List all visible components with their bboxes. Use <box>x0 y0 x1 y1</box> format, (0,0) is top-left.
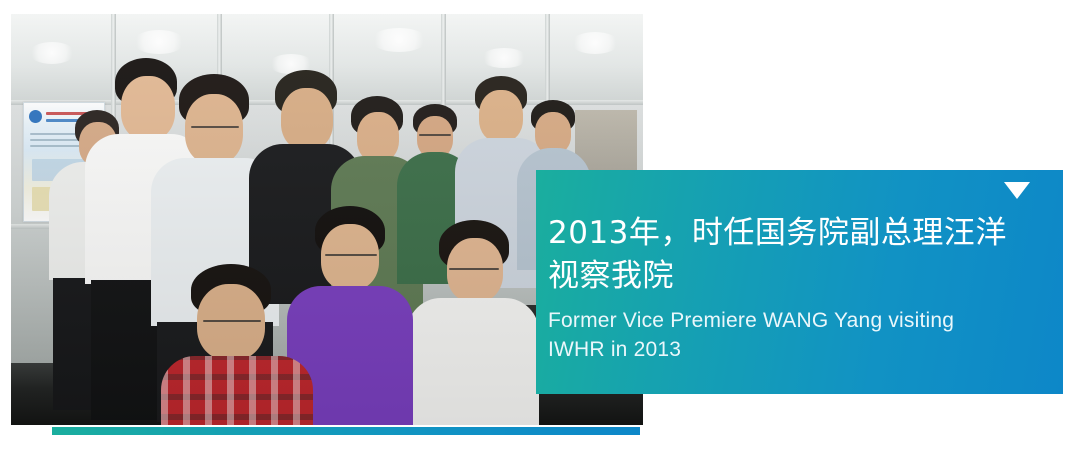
seated-3-coat <box>407 298 539 425</box>
ceiling-light-6 <box>571 32 619 54</box>
person-3-glasses-icon <box>191 126 239 128</box>
person-5-head <box>357 112 399 162</box>
ceiling-light-2 <box>133 30 185 54</box>
seated-2-head <box>321 224 379 290</box>
person-seated-white-coat <box>407 220 539 425</box>
seated-1-plaid <box>161 356 313 425</box>
poster-logo-icon <box>29 110 42 123</box>
seated-3-glasses-icon <box>449 268 499 270</box>
caption-panel: 2013年，时任国务院副总理汪洋 视察我院 Former Vice Premie… <box>536 170 1063 394</box>
seated-2-glasses-icon <box>325 254 377 256</box>
person-6-glasses-icon <box>419 134 451 136</box>
triangle-down-icon <box>1004 182 1030 199</box>
ceiling-light-5 <box>481 48 527 68</box>
person-seated-plaid-shirt <box>161 264 313 425</box>
seated-3-head <box>447 238 503 302</box>
accent-bar <box>52 427 640 435</box>
seated-1-glasses-icon <box>203 320 261 322</box>
seated-1-head <box>197 284 265 360</box>
caption-subtitle-english: Former Vice Premiere WANG Yang visiting … <box>548 306 1048 364</box>
ceiling-light-1 <box>29 42 75 64</box>
photo-caption-banner: 2013年，时任国务院副总理汪洋 视察我院 Former Vice Premie… <box>0 0 1080 451</box>
person-3-head <box>185 94 243 164</box>
ceiling-light-4 <box>371 28 427 52</box>
caption-title-chinese: 2013年，时任国务院副总理汪洋 视察我院 <box>548 212 1048 298</box>
person-4-head <box>281 88 333 150</box>
